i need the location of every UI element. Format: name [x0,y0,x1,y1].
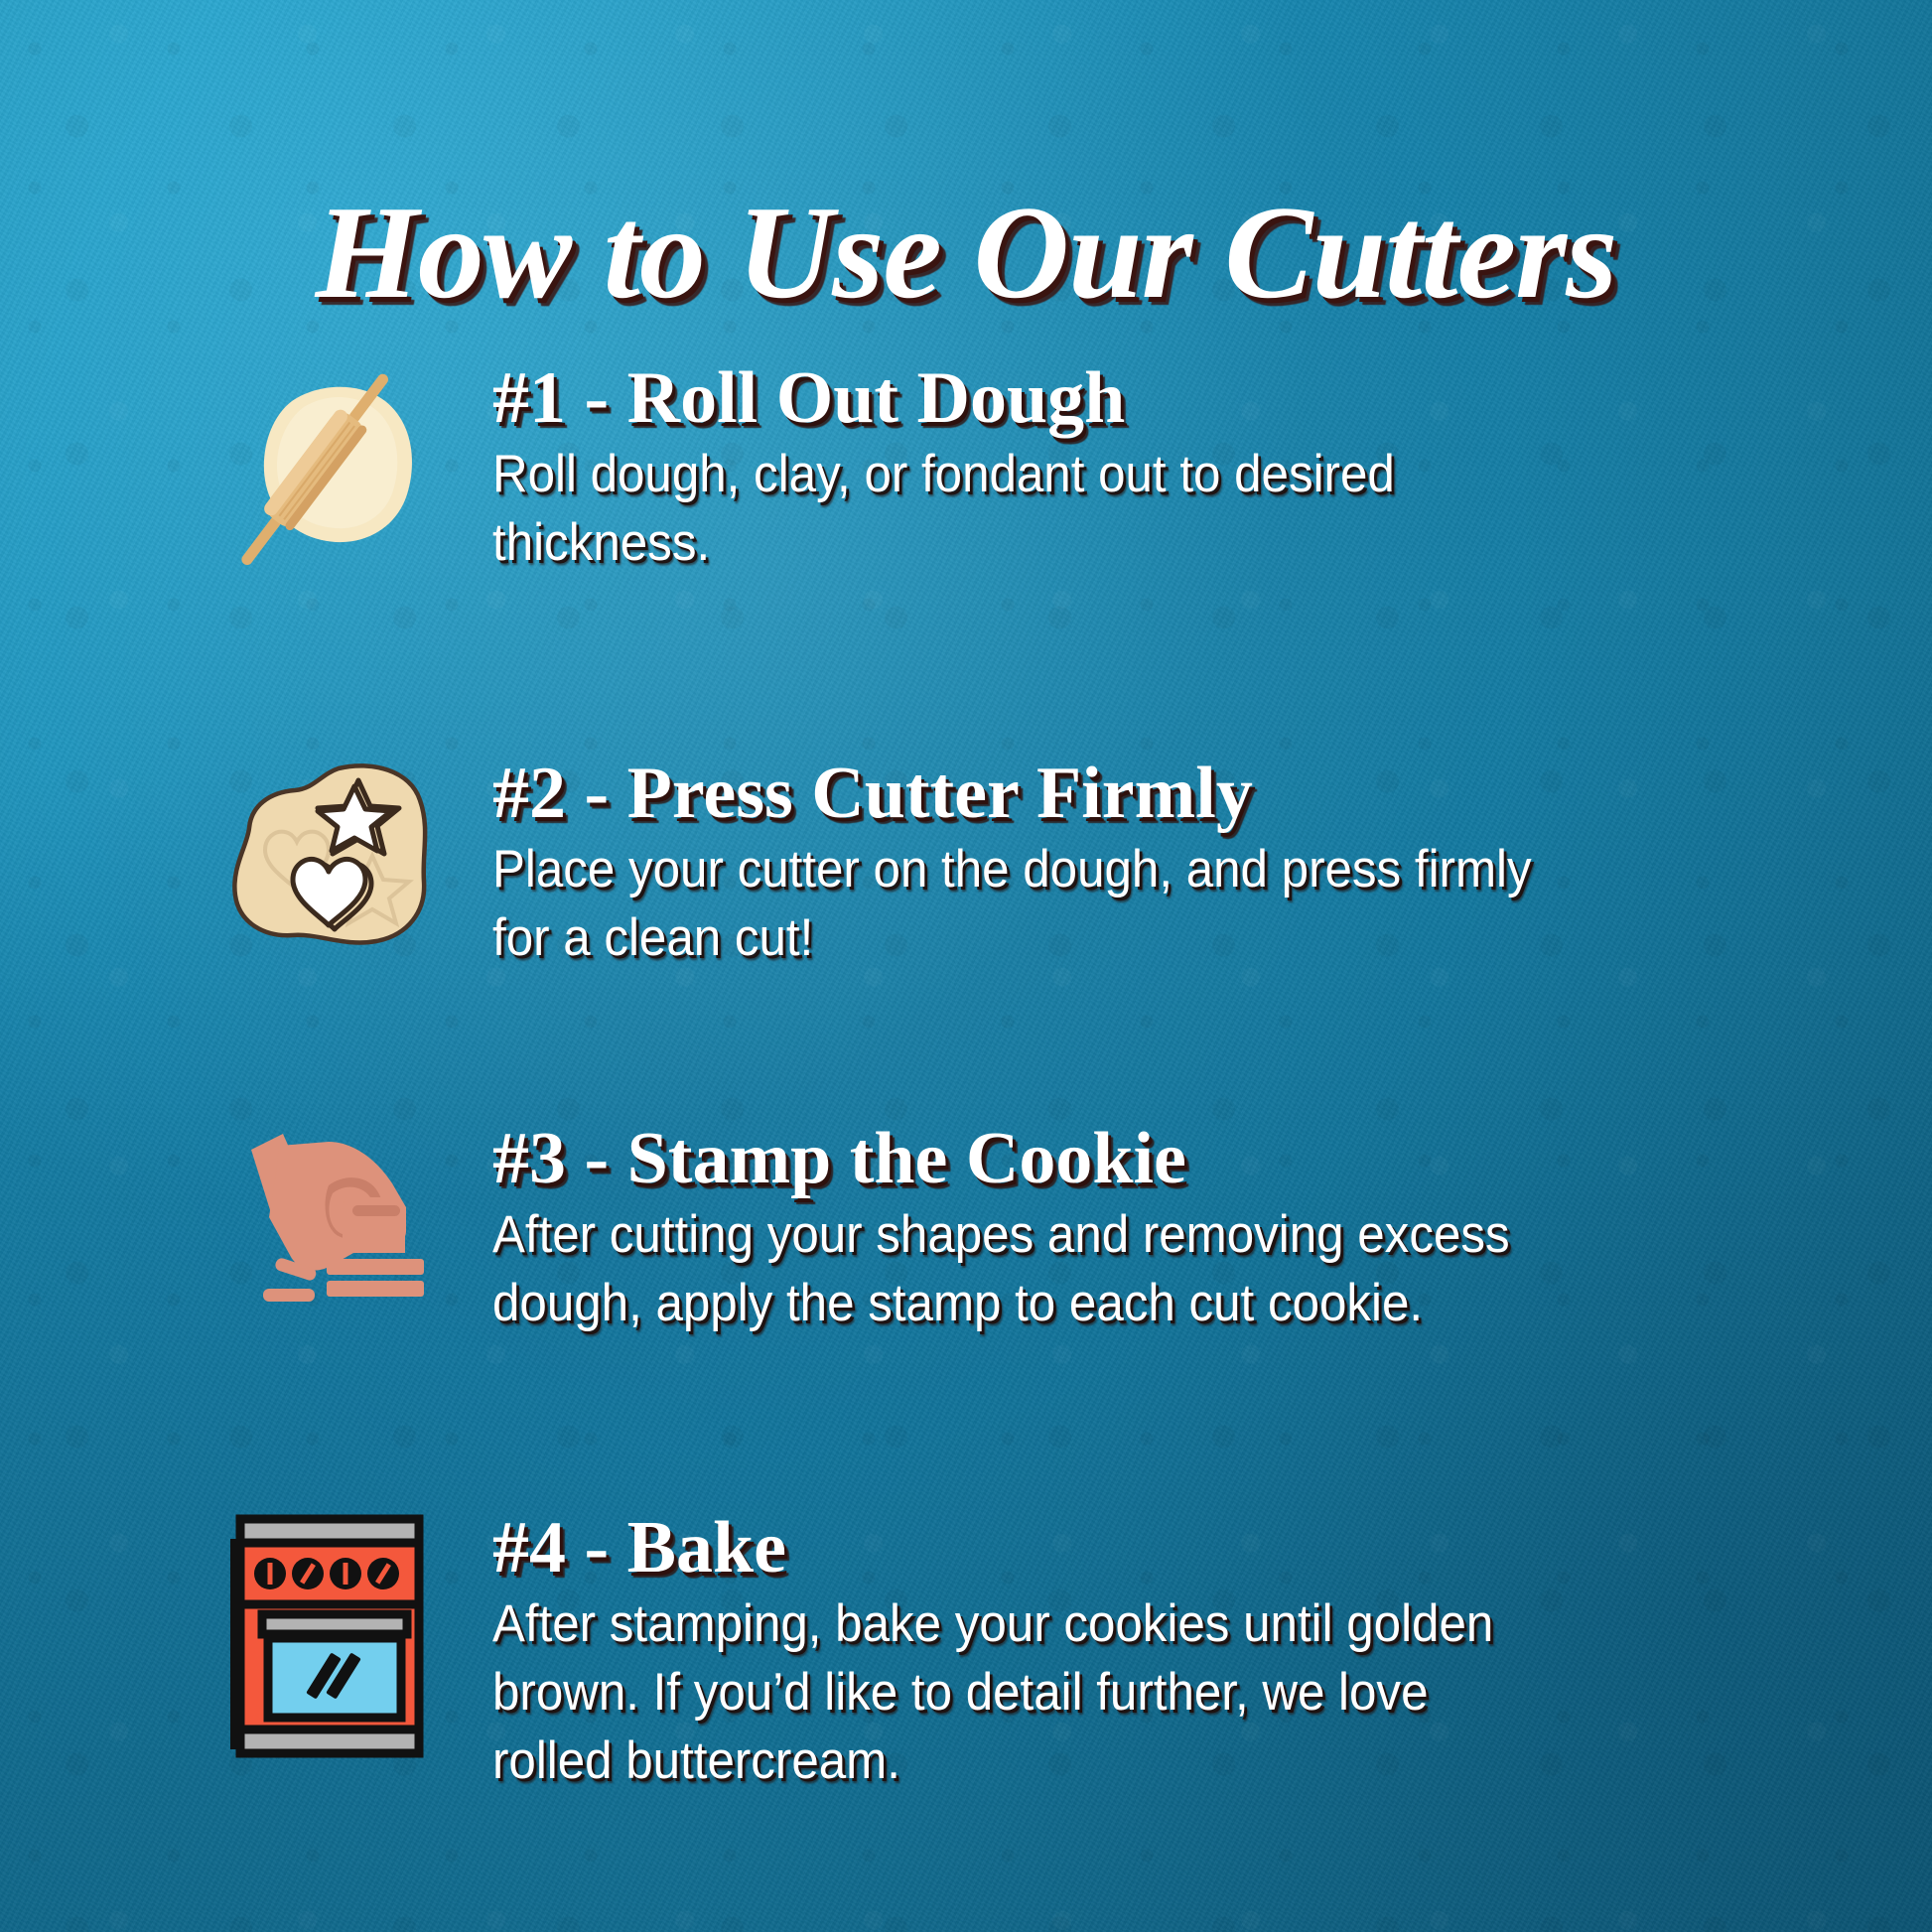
step-item-4: #4 - Bake After stamping, bake your cook… [199,1509,1847,1796]
step-3-body: After cutting your shapes and removing e… [492,1201,1582,1338]
step-4-icon-wrap [199,1509,457,1781]
hand-stamp-icon [221,1126,435,1324]
step-3-body-line-1: After cutting your shapes and removing e… [492,1201,1582,1270]
step-2-icon-wrap [199,755,457,962]
step-item-2: #2 - Press Cutter Firmly Place your cutt… [199,755,1847,973]
page-title: How to Use Our Cutters [0,181,1932,325]
step-3-heading: #3 - Stamp the Cookie [492,1122,1847,1195]
dough-with-cookie-cutters-icon [221,759,435,962]
step-4-body-line-2: brown. If you’d like to detail further, … [492,1659,1582,1727]
step-3-text: #3 - Stamp the Cookie After cutting your… [457,1120,1847,1338]
step-2-heading: #2 - Press Cutter Firmly [492,757,1847,830]
step-3-icon-wrap [199,1120,457,1324]
step-4-body-line-1: After stamping, bake your cookies until … [492,1590,1582,1659]
step-item-1: #1 - Roll Out Dough Roll dough, clay, or… [199,359,1847,578]
step-2-body-line-1: Place your cutter on the dough, and pres… [492,836,1582,904]
step-1-text: #1 - Roll Out Dough Roll dough, clay, or… [457,359,1847,578]
step-2-body-line-2: for a clean cut! [492,904,1582,973]
step-item-3: #3 - Stamp the Cookie After cutting your… [199,1120,1847,1338]
step-4-body-line-3: rolled buttercream. [492,1727,1582,1796]
step-1-body-line-2: thickness. [492,509,1582,578]
step-3-body-line-2: dough, apply the stamp to each cut cooki… [492,1270,1582,1338]
step-4-text: #4 - Bake After stamping, bake your cook… [457,1509,1847,1796]
poster-canvas: How to Use Our Cutters #1 - [0,0,1932,1932]
step-1-body: Roll dough, clay, or fondant out to desi… [492,441,1582,578]
step-2-text: #2 - Press Cutter Firmly Place your cutt… [457,755,1847,973]
oven-icon [226,1513,430,1781]
step-4-body: After stamping, bake your cookies until … [492,1590,1582,1796]
step-1-body-line-1: Roll dough, clay, or fondant out to desi… [492,441,1582,509]
rolling-pin-dough-icon [208,367,447,576]
step-2-body: Place your cutter on the dough, and pres… [492,836,1582,973]
step-1-heading: #1 - Roll Out Dough [492,361,1847,435]
step-1-icon-wrap [199,359,457,576]
step-4-heading: #4 - Bake [492,1511,1847,1585]
